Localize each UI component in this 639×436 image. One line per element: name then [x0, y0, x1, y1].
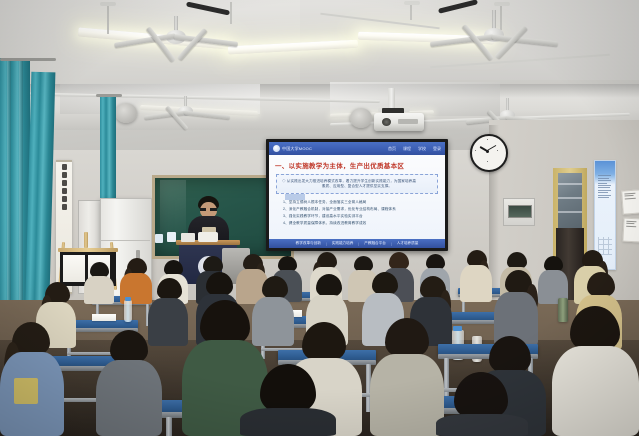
easel-poster	[63, 255, 85, 282]
student	[494, 270, 538, 346]
classroom-photo: 中国大学MOOC 首页 课程 学校 登录 一、以实施教学为主体，生产出优质基本区…	[0, 0, 639, 436]
body-line-1: 2、深化产教融合机制，对接产业需求，优化专业结构布局、课程体系	[283, 206, 431, 213]
footer-item-3[interactable]: 人才培养质量	[397, 241, 419, 246]
footer-sep-1: |	[358, 242, 359, 246]
projector-vent	[398, 119, 418, 124]
projection-screen[interactable]: 中国大学MOOC 首页 课程 学校 登录 一、以实施教学为主体，生产出优质基本区…	[266, 139, 448, 251]
footer-item-0[interactable]: 教学改革与创新	[296, 241, 321, 246]
slide-logo-text: 中国大学MOOC	[282, 146, 312, 152]
slide-nav-item-3[interactable]: 登录	[433, 146, 441, 152]
slide-nav-item-1[interactable]: 课程	[403, 146, 411, 152]
student	[0, 322, 64, 436]
water-bottle	[124, 300, 132, 322]
student	[96, 330, 162, 436]
wall-control-panel[interactable]	[503, 198, 535, 226]
body-line-2: 3、强化实践教学环节，建设高水平实验实训平台	[283, 213, 431, 220]
ceiling-fan-3	[146, 96, 230, 132]
logo-mark-icon	[273, 145, 280, 152]
body-line-3: 4、健全教学质量保障体系，持续改进教育教学成效	[283, 220, 431, 227]
ceiling-bracket-3	[494, 2, 510, 6]
curtain-rod	[0, 58, 56, 61]
student	[370, 318, 444, 436]
slide-highlight-block	[285, 194, 305, 200]
footer-sep-2: |	[391, 242, 392, 246]
scroll-char-3	[62, 180, 67, 186]
callout-line-1: 素质、应用型、复合型人才提供坚实支撑。	[282, 184, 432, 189]
bottle-cap	[125, 297, 131, 301]
ceiling-hanger-1	[107, 4, 109, 34]
slide-logo: 中国大学MOOC	[273, 145, 312, 152]
slide-nav: 首页 课程 学校 登录	[388, 146, 441, 152]
podium-cup-2	[155, 234, 163, 243]
scroll-char-4	[62, 188, 67, 194]
clock-center-icon	[486, 150, 489, 153]
student	[240, 364, 336, 436]
scroll-char-6	[62, 204, 67, 210]
projector-mount	[388, 88, 395, 110]
slide-nav-item-2[interactable]: 学校	[418, 146, 426, 152]
slide-title: 一、以实施教学为主体，生产出优质基本区	[275, 160, 439, 170]
projector-lens-icon	[382, 118, 391, 126]
student	[552, 306, 639, 436]
slide-body: 1、坚持立德树人根本任务，全面落实三全育人格局 2、深化产教融合机制，对接产业需…	[283, 199, 431, 227]
student	[84, 262, 114, 304]
slide-header: 中国大学MOOC 首页 课程 学校 登录	[269, 142, 445, 155]
podium-box-left	[181, 233, 195, 242]
ceiling-bracket-1	[100, 2, 116, 6]
ceiling-fan-1	[118, 16, 236, 62]
scroll-char-2	[62, 172, 67, 178]
scroll-char-1	[62, 164, 67, 170]
slide-callout-box: ◇ 从实践出发大力推进培养模式改革，着力提升学生创新实践能力，为国家培养高 素质…	[276, 174, 438, 194]
footer-item-1[interactable]: 实践能力培养	[332, 241, 354, 246]
scroll-char-5	[62, 196, 67, 202]
slide-content: 中国大学MOOC 首页 课程 学校 登录 一、以实施教学为主体，生产出优质基本区…	[269, 142, 445, 248]
notebook	[92, 314, 116, 321]
ceiling-fan-2	[436, 10, 558, 58]
wall-speaker-right	[350, 108, 372, 128]
door-glass-panel	[558, 173, 582, 229]
footer-sep-0: |	[326, 242, 327, 246]
slide-footer: 教学改革与创新 | 实践能力培养 | 产教融合平台 | 人才培养质量	[269, 239, 445, 248]
podium-cup	[167, 232, 176, 242]
body-line-0: 1、坚持立德树人根本任务，全面落实三全育人格局	[283, 199, 431, 206]
student	[460, 250, 492, 302]
wall-speaker-left	[115, 103, 137, 123]
presenter-glasses-icon	[200, 208, 217, 211]
projector-assembly	[366, 88, 432, 136]
student	[436, 372, 528, 436]
slide-nav-item-0[interactable]: 首页	[388, 146, 396, 152]
wall-notice-upper	[621, 189, 639, 214]
ceiling-bracket-2	[404, 1, 420, 5]
podium-monitor	[198, 232, 218, 242]
desk-leg	[166, 417, 172, 436]
control-panel-screen	[508, 205, 532, 218]
wall-notice-lower	[622, 218, 639, 243]
curtain-rod-2	[96, 94, 122, 97]
footer-item-2[interactable]: 产教融合平台	[364, 241, 386, 246]
bottle-cap	[453, 326, 462, 331]
student	[538, 256, 568, 304]
wall-clock	[470, 134, 508, 172]
